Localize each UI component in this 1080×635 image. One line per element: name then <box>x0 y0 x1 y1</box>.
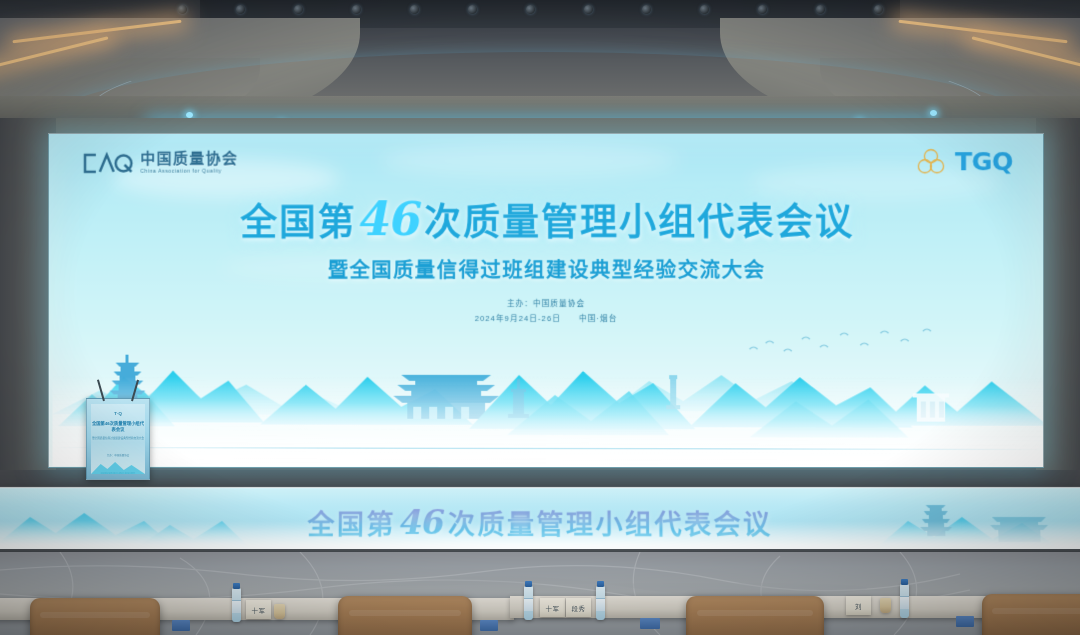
chair-1[interactable] <box>30 598 160 635</box>
meta-organizer: 主办：中国质量协会 <box>52 297 1044 312</box>
ht-title-number: 46 <box>396 503 448 542</box>
marble-floor-pattern <box>0 552 1080 635</box>
blue-tag-2 <box>480 620 498 631</box>
ceiling-downlight <box>642 5 651 14</box>
tgq-logo: TGQ <box>915 147 1012 176</box>
caq-logo: 中国质量协会 China Association for Quality <box>81 152 238 175</box>
name-card-4-text: 刘 <box>855 601 862 611</box>
blue-tag-4 <box>956 616 974 627</box>
lectern-mountain-art <box>91 458 145 474</box>
main-title-prefix: 全国第 <box>240 202 356 243</box>
tgq-trefoil-icon <box>915 148 945 175</box>
name-card-4: 刘 <box>846 596 871 615</box>
tgq-logo-text: TGQ <box>955 147 1013 176</box>
ceiling-downlight <box>526 5 535 14</box>
water-bottle-4[interactable] <box>900 584 909 618</box>
cup-1[interactable] <box>274 604 285 619</box>
name-card-3-text: 段秀 <box>572 603 586 613</box>
ceiling-downlight <box>758 5 767 14</box>
ht-title-prefix: 全国第 <box>307 510 396 540</box>
lectern-subtitle: 暨全国质量信得过班组建设典型经验交流大会 <box>91 436 145 440</box>
ht-title-suffix: 次质量管理小组代表会议 <box>448 510 773 540</box>
blue-tag-3 <box>640 618 660 629</box>
ceiling-downlight <box>584 5 593 14</box>
ceiling-spot-light <box>930 110 937 116</box>
name-card-1-text: 十军 <box>252 605 266 615</box>
ceiling-downlight <box>410 5 419 14</box>
foreground-front-row: 十军 十军 段秀 刘 <box>0 552 1080 635</box>
ceiling-downlight <box>178 5 187 14</box>
water-bottle-1[interactable] <box>232 588 241 622</box>
water-bottle-2[interactable] <box>524 586 533 620</box>
cup-2[interactable] <box>880 598 891 613</box>
chair-3[interactable] <box>686 596 824 635</box>
ceiling-downlight <box>294 5 303 14</box>
sub-title: 暨全国质量信得过班组建设典型经验交流大会 <box>52 253 1044 283</box>
caq-logo-chinese: 中国质量协会 <box>140 152 238 168</box>
main-title-number: 46 <box>357 192 425 246</box>
name-card-3: 段秀 <box>566 598 591 617</box>
ceiling-downlight <box>874 5 883 14</box>
ceiling-downlight <box>468 5 477 14</box>
blue-tag-1 <box>172 620 190 631</box>
landscape-mist <box>52 376 1044 468</box>
main-title-suffix: 次质量管理小组代表会议 <box>424 202 854 244</box>
main-title: 全国第46次质量管理小组代表会议 <box>52 195 1044 242</box>
ink-landscape-artwork <box>52 319 1044 468</box>
screen-title-block: 全国第46次质量管理小组代表会议 暨全国质量信得过班组建设典型经验交流大会 <box>52 195 1044 283</box>
chair-2[interactable] <box>338 596 472 635</box>
lectern-front-panel: T·Q 全国第46次质量管理小组代表会议 暨全国质量信得过班组建设典型经验交流大… <box>91 404 145 474</box>
ceiling-downlight <box>236 5 245 14</box>
conference-hall-scene: 中国质量协会 China Association for Quality TGQ… <box>0 0 1080 635</box>
caq-logo-mark <box>81 152 133 175</box>
ceiling-downlight <box>816 5 825 14</box>
led-backdrop-screen: 中国质量协会 China Association for Quality TGQ… <box>48 133 1044 468</box>
head-table-banner: 全国第46次质量管理小组代表会议 <box>0 487 1080 555</box>
ceiling-downlight <box>352 5 361 14</box>
ceiling-downlight <box>700 5 709 14</box>
lectern-podium[interactable]: T·Q 全国第46次质量管理小组代表会议 暨全国质量信得过班组建设典型经验交流大… <box>86 398 150 480</box>
flying-birds-icon <box>750 329 931 351</box>
water-bottle-3[interactable] <box>596 586 605 620</box>
lectern-logo: T·Q <box>91 411 145 416</box>
name-card-1: 十军 <box>246 600 271 619</box>
name-card-2-text: 十军 <box>546 603 560 613</box>
name-card-2: 十军 <box>540 598 565 617</box>
head-table-title: 全国第46次质量管理小组代表会议 <box>0 503 1080 542</box>
caq-logo-english: China Association for Quality <box>140 168 238 174</box>
chair-4[interactable] <box>982 594 1080 635</box>
lectern-title: 全国第46次质量管理小组代表会议 <box>91 421 145 434</box>
